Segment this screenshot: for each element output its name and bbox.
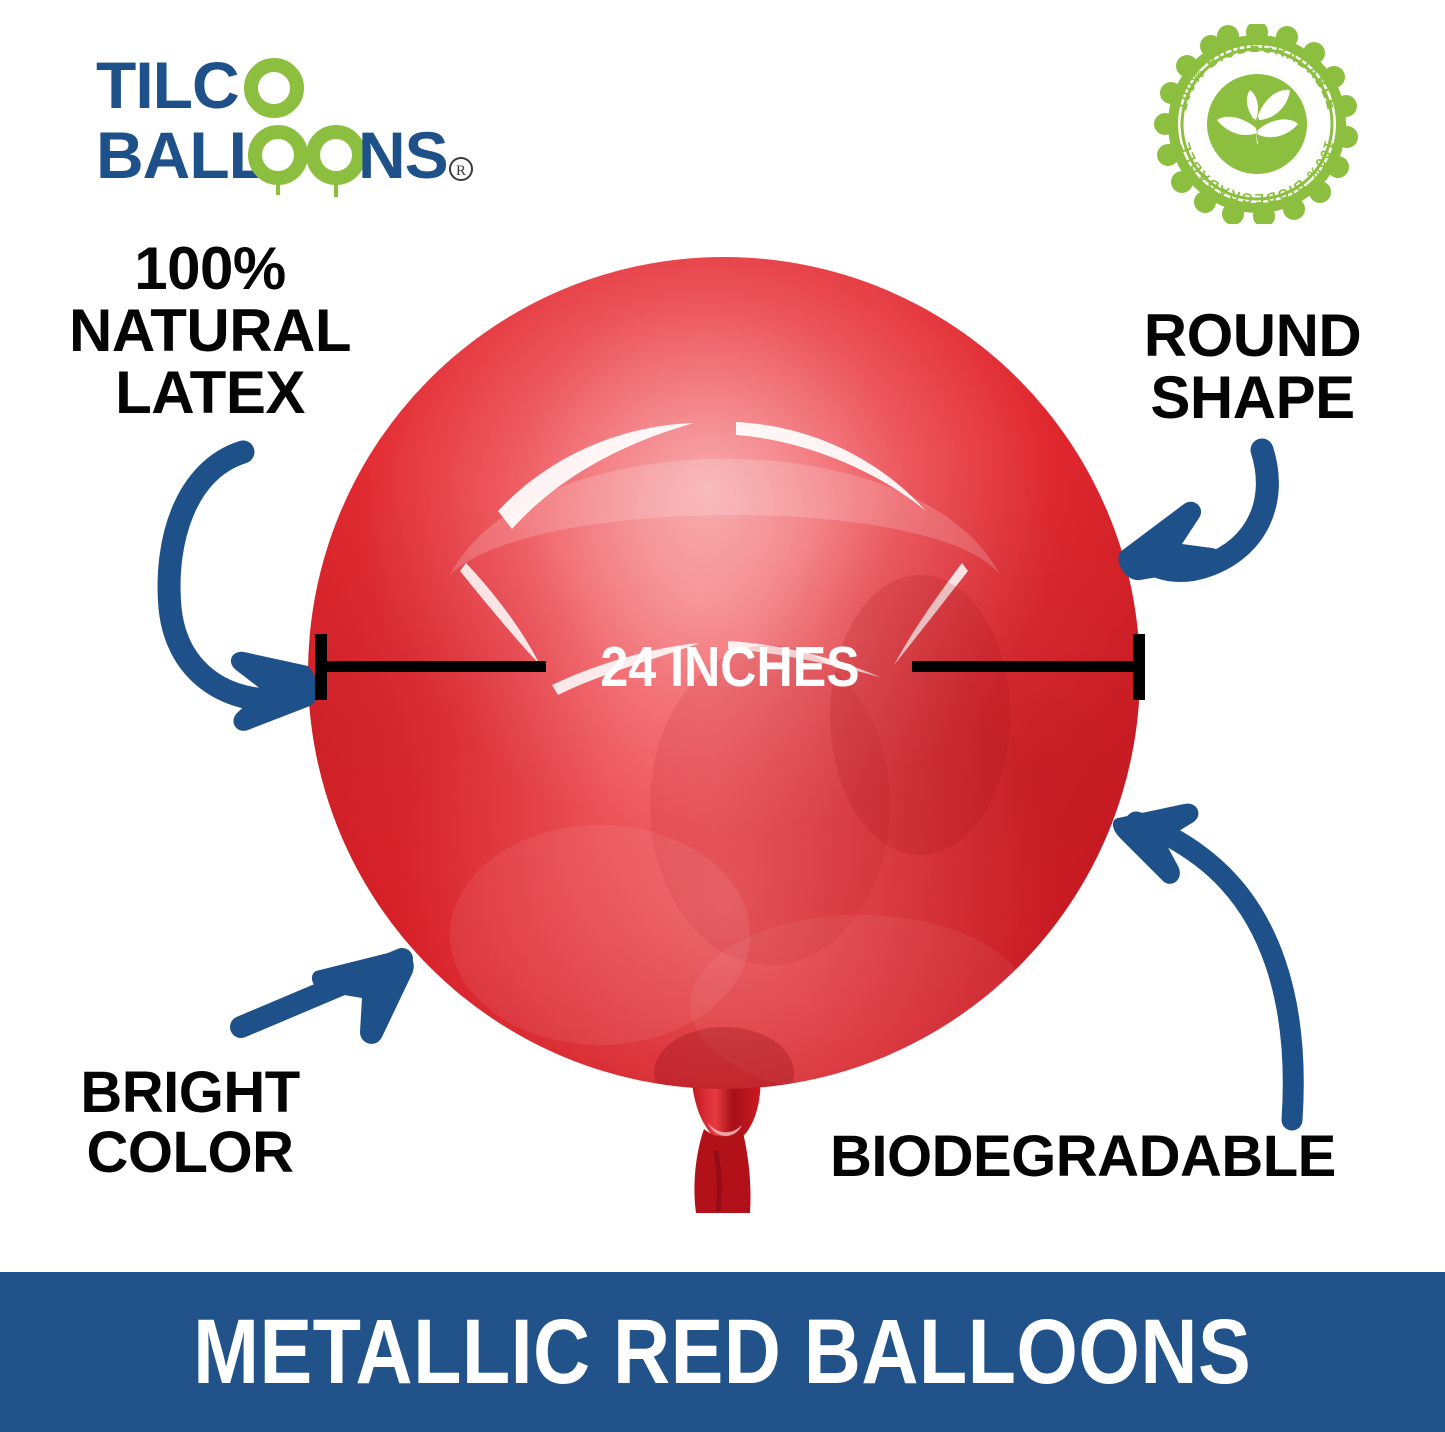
registered-trademark-icon: R xyxy=(450,158,472,180)
product-title-banner: METALLIC RED BALLOONS xyxy=(0,1272,1445,1432)
balloon-image xyxy=(300,245,1160,1255)
brand-logo: TILC BALL NS R xyxy=(96,52,526,202)
product-infographic: TILC BALL NS R xyxy=(0,0,1445,1432)
badge-star-right-icon: ★ xyxy=(1334,118,1347,135)
product-title: METALLIC RED BALLOONS xyxy=(193,1300,1251,1405)
logo-text-tilc: TILC xyxy=(96,52,239,122)
logo-balloon-o-3 xyxy=(313,132,359,197)
logo-balloon-o-1 xyxy=(251,65,297,111)
svg-text:R: R xyxy=(456,163,466,179)
logo-text-ns: NS xyxy=(358,118,448,192)
dimension-label: 24 INCHES xyxy=(352,634,1109,700)
biodegradable-badge: 100% BIODEGRADABLE 100% BIODEGRADABLE ★ … xyxy=(1152,24,1362,224)
arrow-natural-latex xyxy=(169,452,317,731)
logo-text-ball: BALL xyxy=(96,118,268,192)
badge-star-left-icon: ★ xyxy=(1166,118,1179,135)
